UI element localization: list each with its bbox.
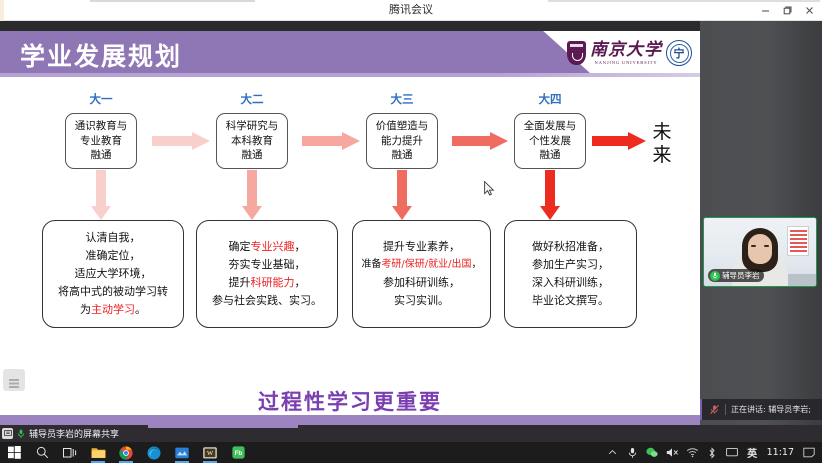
- nju-name-cn: 南京大学: [590, 41, 662, 60]
- share-progress-line: [148, 425, 298, 428]
- wall-poster: [787, 226, 809, 256]
- stage-box-4: 全面发展与 个性发展 融通: [514, 113, 586, 169]
- flow-arrow-h-4: [592, 132, 646, 150]
- mic-muted-icon: [708, 404, 720, 416]
- plain-text: 认清自我，: [86, 231, 141, 244]
- plain-text: 参加生产实习，: [532, 258, 609, 271]
- minimize-icon[interactable]: [754, 0, 776, 21]
- taskbar-app-google-chrome[interactable]: [112, 442, 140, 463]
- detail-box-4-line-4: 毕业论文撰写。: [532, 292, 609, 310]
- stage-box-3-line-3: 融通: [392, 148, 413, 163]
- plain-text: 提升专业素养，: [383, 240, 460, 253]
- slide-header: 学业发展规划 南京大学 NANJING UNIVERSITY 宁: [0, 31, 700, 73]
- detail-box-3-line-3: 参加科研训练，: [383, 274, 460, 292]
- speaking-indicator-bar: 正在讲话: 辅导员李岩;: [700, 399, 822, 420]
- detail-box-4-line-3: 深入科研训练，: [532, 274, 609, 292]
- detail-box-1-line-3: 适应大学环境，: [75, 265, 152, 283]
- taskbar-app-file-explorer[interactable]: [84, 442, 112, 463]
- taskbar-clock[interactable]: 11:17: [763, 442, 798, 463]
- windows-taskbar: W Fb: [0, 442, 822, 463]
- detail-box-4-line-1: 做好秋招准备，: [532, 238, 609, 256]
- plain-text: ，: [295, 276, 306, 289]
- stage-box-2-line-1: 科学研究与: [226, 119, 279, 134]
- detail-box-1-line-1: 认清自我，: [86, 229, 141, 247]
- taskbar-app-wechat[interactable]: [168, 442, 196, 463]
- year-label-2: 大二: [217, 91, 287, 107]
- plain-text: 毕业论文撰写。: [532, 294, 609, 307]
- stage-box-1: 通识教育与 专业教育 融通: [65, 113, 137, 169]
- taskbar-app-foxit-reader[interactable]: Fb: [224, 442, 252, 463]
- divider: [725, 404, 726, 415]
- participant-video-tile[interactable]: 辅导员李岩: [703, 217, 817, 287]
- detail-box-4: 做好秋招准备，参加生产实习，深入科研训练，毕业论文撰写。: [504, 220, 637, 328]
- highlighted-text: 考研/保研/就业/出国: [381, 259, 471, 270]
- flow-arrow-h-1: [152, 132, 210, 150]
- window-controls: [754, 0, 820, 21]
- plain-text: 参加科研训练，: [383, 276, 460, 289]
- highlighted-text: 科研能力: [251, 276, 295, 289]
- screen-share-strip: 辅导员李岩的屏幕共享: [0, 425, 822, 442]
- stage-box-1-line-3: 融通: [91, 148, 112, 163]
- share-owner-text: 辅导员李岩的屏幕共享: [29, 427, 119, 440]
- taskbar-app-wps-office[interactable]: W: [196, 442, 224, 463]
- presentation-panel-icon[interactable]: [3, 369, 25, 391]
- nanjing-university-logo: 南京大学 NANJING UNIVERSITY 宁: [567, 36, 692, 70]
- taskbar-tray: 英 11:17: [603, 442, 822, 463]
- slide-bottom-band: [0, 415, 700, 425]
- flow-arrow-v-4: [540, 170, 560, 220]
- stage-box-1-line-2: 专业教育: [80, 134, 122, 149]
- taskbar-app-microsoft-edge[interactable]: [140, 442, 168, 463]
- show-hidden-icons[interactable]: [603, 442, 622, 463]
- mic-on-icon: [710, 271, 720, 281]
- mouse-cursor-icon: [484, 181, 495, 196]
- window-title: 腾讯会议: [0, 0, 822, 21]
- speaking-status-text: 正在讲话: 辅导员李岩;: [731, 404, 811, 415]
- detail-box-4-line-2: 参加生产实习，: [532, 256, 609, 274]
- plain-text: 夯实专业基础，: [229, 258, 306, 271]
- highlighted-text: 专业兴趣: [251, 240, 295, 253]
- plain-text: 提升: [229, 276, 251, 289]
- stage-box-4-line-2: 个性发展: [529, 134, 571, 149]
- participant-name-badge: 辅导员李岩: [708, 269, 764, 282]
- shared-screen-slide: 学业发展规划 南京大学 NANJING UNIVERSITY 宁 大一: [0, 28, 700, 425]
- detail-box-1: 认清自我，准确定位，适应大学环境，将高中式的被动学习转为主动学习。: [42, 220, 184, 328]
- svg-text:Fb: Fb: [234, 450, 242, 457]
- plain-text: 确定: [229, 240, 251, 253]
- nju-shield-icon: [567, 41, 586, 65]
- ime-indicator[interactable]: 英: [743, 442, 762, 463]
- bluetooth-icon[interactable]: [703, 442, 722, 463]
- stage-box-3: 价值塑造与 能力提升 融通: [366, 113, 438, 169]
- search-icon[interactable]: [28, 442, 56, 463]
- taskbar-left: W Fb: [0, 442, 252, 463]
- detail-box-3-line-1: 提升专业素养，: [383, 238, 460, 256]
- wechat-tray-icon[interactable]: [643, 442, 662, 463]
- plain-text: 。: [135, 303, 146, 316]
- stage-box-3-line-1: 价值塑造与: [376, 119, 429, 134]
- plain-text: ，: [295, 240, 306, 253]
- plain-text: 准确定位，: [86, 249, 141, 262]
- detail-box-1-line-5: 为主动学习。: [80, 301, 146, 319]
- detail-box-3-line-4: 实习实训。: [394, 292, 449, 310]
- slide-footer-text: 过程性学习更重要: [0, 386, 700, 416]
- detail-box-2-line-2: 夯实专业基础，: [229, 256, 306, 274]
- window-title-bar: 腾讯会议: [0, 0, 822, 21]
- participant-face: [748, 234, 772, 264]
- plain-text: 实习实训。: [394, 294, 449, 307]
- detail-box-1-line-2: 准确定位，: [86, 247, 141, 265]
- meeting-stage: 学业发展规划 南京大学 NANJING UNIVERSITY 宁 大一: [0, 21, 822, 425]
- nju-emblem-icon: 宁: [666, 40, 692, 66]
- detail-box-2-line-1: 确定专业兴趣，: [229, 238, 306, 256]
- plain-text: 适应大学环境，: [75, 267, 152, 280]
- detail-box-2-line-4: 参与社会实践、实习。: [212, 292, 322, 310]
- flow-arrow-h-3: [452, 132, 508, 150]
- stage-box-2: 科学研究与 本科教育 融通: [216, 113, 288, 169]
- year-label-4: 大四: [515, 91, 585, 107]
- detail-box-2: 确定专业兴趣，夯实专业基础，提升科研能力，参与社会实践、实习。: [196, 220, 338, 328]
- svg-text:W: W: [207, 450, 214, 457]
- wifi-icon[interactable]: [683, 442, 702, 463]
- display-icon[interactable]: [723, 442, 742, 463]
- nju-wordmark: 南京大学 NANJING UNIVERSITY: [590, 41, 662, 66]
- detail-box-2-line-3: 提升科研能力，: [229, 274, 306, 292]
- stage-box-2-line-2: 本科教育: [231, 134, 273, 149]
- detail-box-3: 提升专业素养，准备考研/保研/就业/出国，参加科研训练，实习实训。: [352, 220, 491, 328]
- flow-arrow-v-2: [242, 170, 262, 220]
- highlighted-text: 主动学习: [91, 303, 135, 316]
- page-title: 学业发展规划: [20, 37, 182, 73]
- nju-emblem-char: 宁: [674, 45, 685, 61]
- volume-muted-icon[interactable]: [663, 442, 682, 463]
- windows-start-icon[interactable]: [0, 442, 28, 463]
- screen-share-icon: [2, 428, 13, 439]
- stage-box-2-line-3: 融通: [242, 148, 263, 163]
- detail-box-1-line-4: 将高中式的被动学习转: [58, 283, 168, 301]
- year-label-3: 大三: [367, 91, 437, 107]
- microphone-icon[interactable]: [623, 442, 642, 463]
- flow-arrow-v-3: [392, 170, 412, 220]
- stage-box-1-line-1: 通识教育与: [75, 119, 128, 134]
- future-label: 未来: [648, 121, 676, 167]
- plain-text: 将高中式的被动学习转: [58, 285, 168, 298]
- participant-name: 辅导员李岩: [722, 270, 760, 281]
- year-label-1: 大一: [66, 91, 136, 107]
- plain-text: 准备: [361, 259, 381, 270]
- screen: 腾讯会议: [0, 0, 822, 463]
- task-view-icon[interactable]: [56, 442, 84, 463]
- share-info: 辅导员李岩的屏幕共享: [2, 426, 119, 441]
- flow-arrow-h-2: [302, 132, 360, 150]
- notification-icon[interactable]: [799, 442, 818, 463]
- plain-text: 做好秋招准备，: [532, 240, 609, 253]
- stage-box-3-line-2: 能力提升: [381, 134, 423, 149]
- flow-chart: 大一 大二 大三 大四 通识教育与 专业教育 融通 科学研究与 本科教育 融通 …: [0, 77, 700, 425]
- plain-text: 为: [80, 303, 91, 316]
- nju-name-en: NANJING UNIVERSITY: [594, 60, 657, 66]
- plain-text: 参与社会实践、实习。: [212, 294, 322, 307]
- plain-text: 深入科研训练，: [532, 276, 609, 289]
- desk: [786, 274, 816, 286]
- stage-box-4-line-1: 全面发展与: [524, 119, 577, 134]
- plain-text: ，: [472, 259, 482, 270]
- mic-on-icon: [16, 428, 26, 439]
- stage-box-4-line-3: 融通: [540, 148, 561, 163]
- close-icon[interactable]: [798, 0, 820, 21]
- detail-box-3-line-2: 准备考研/保研/就业/出国，: [361, 256, 481, 274]
- flow-arrow-v-1: [91, 170, 111, 220]
- restore-icon[interactable]: [776, 0, 798, 21]
